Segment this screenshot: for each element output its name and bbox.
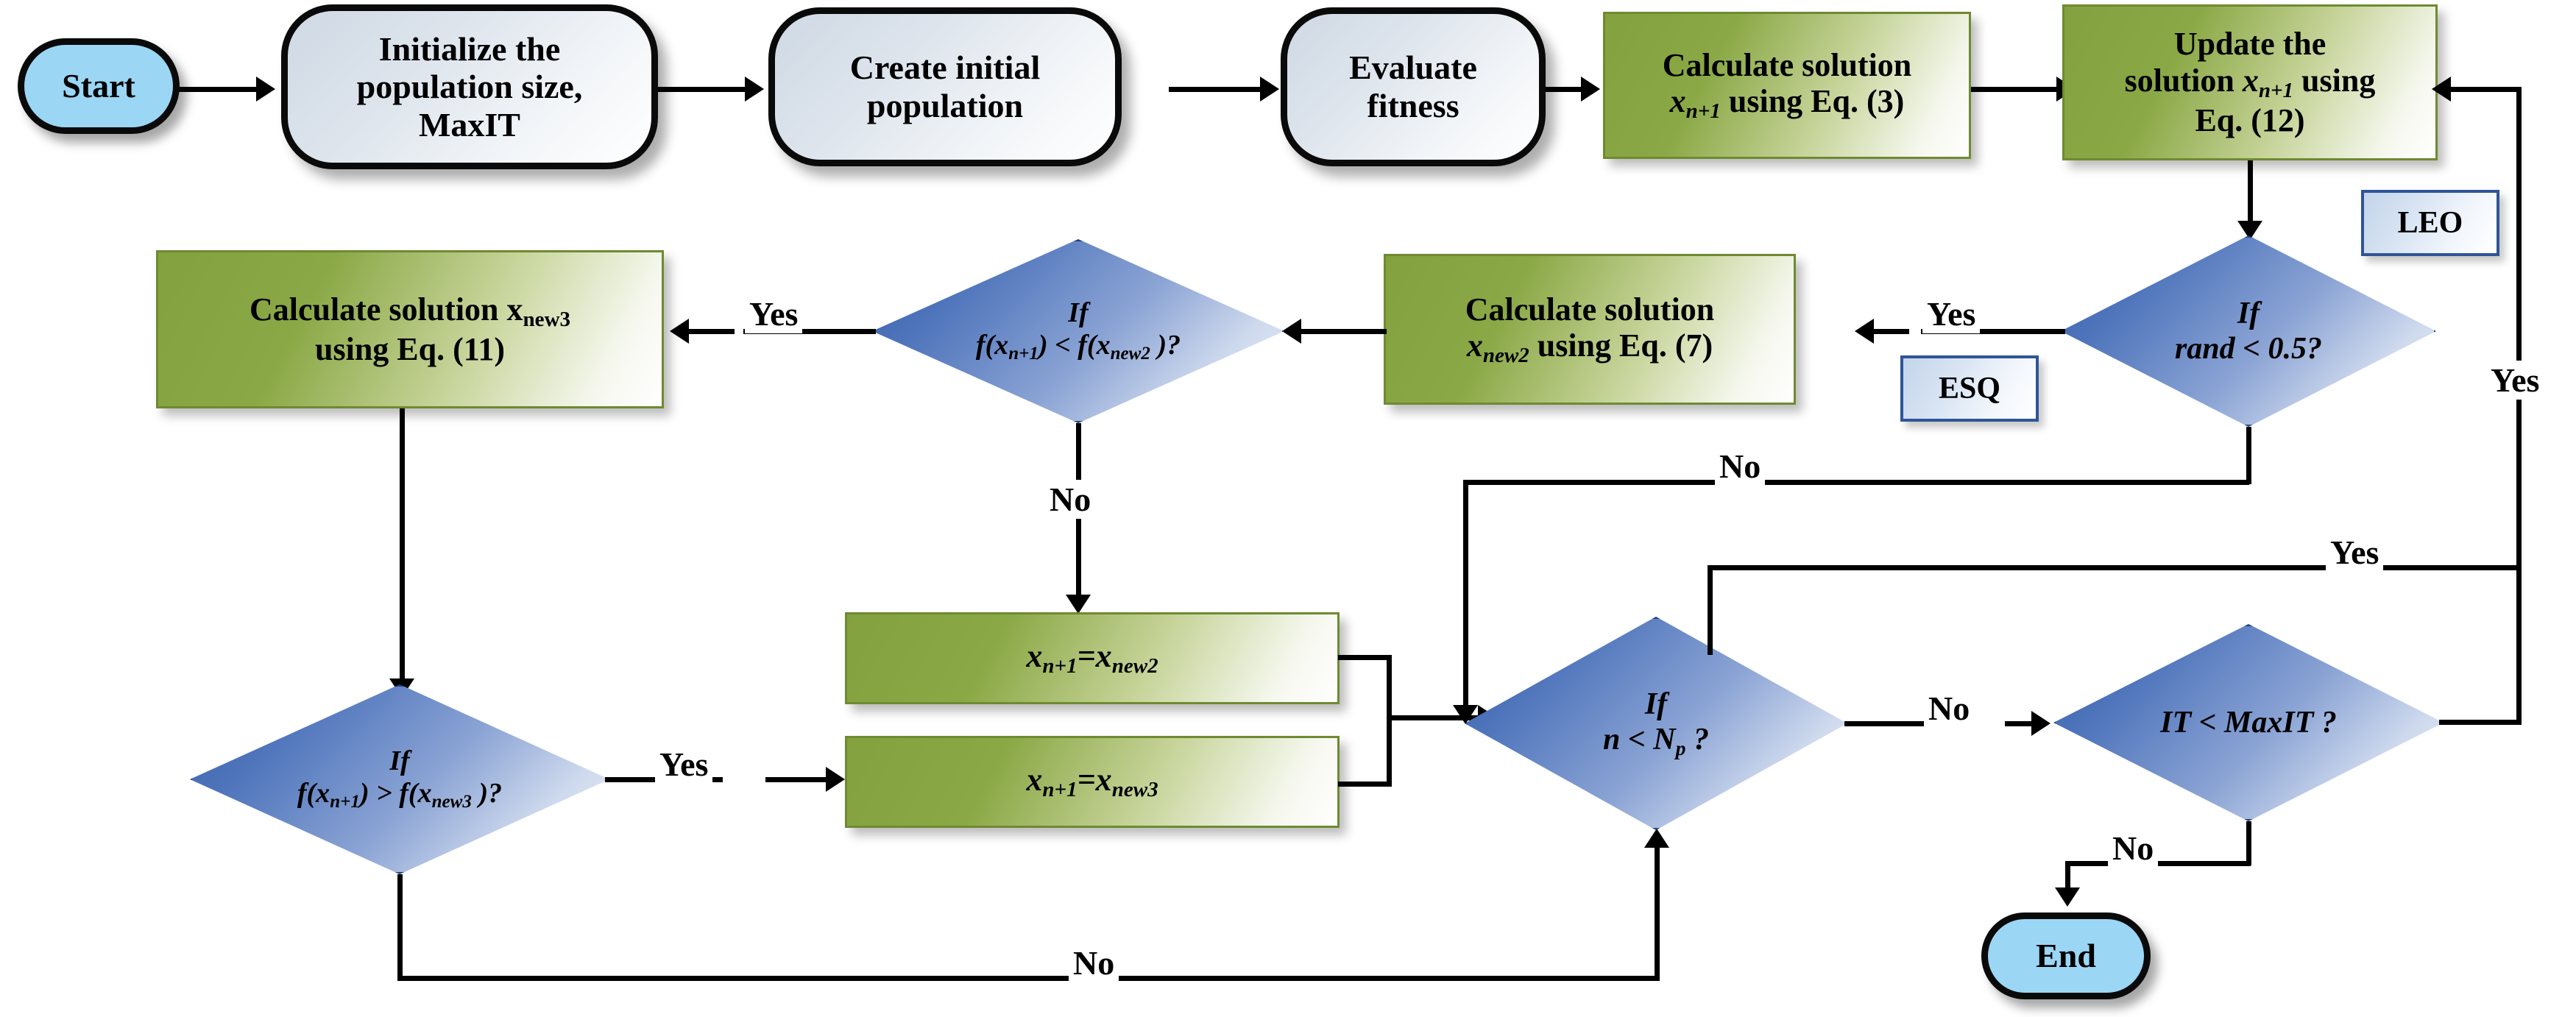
edge-ifrand-yes-2 <box>1868 329 1909 334</box>
var-x: x <box>2243 63 2259 99</box>
node-if-fx-gt-line2: f(xn+1) > f(xnew3 )? <box>297 778 502 813</box>
node-update-solution-eq12-line1: Update the <box>2125 26 2376 62</box>
edge-assign3-out <box>1338 782 1391 787</box>
node-if-fx-lt-line1: If <box>1068 297 1088 330</box>
arrowhead-maxit-yes-back <box>2432 77 2451 102</box>
node-calc-new2-line1: Calculate solution <box>1465 291 1715 327</box>
equals-x: =x <box>1078 638 1112 674</box>
node-create-population-line2: population <box>850 87 1040 125</box>
badge-esq-label: ESQ <box>1939 371 2000 406</box>
var-x: x <box>1670 83 1686 119</box>
var-x-subscript: n+1 <box>1042 778 1077 801</box>
node-assign-new3[interactable]: xn+1=xnew3 <box>845 736 1340 828</box>
using-word: using <box>2293 63 2375 99</box>
np-part-a: n < N <box>1603 723 1676 756</box>
fx-sub-2: new3 <box>432 792 472 812</box>
edge-label-fxlt-yes: Yes <box>745 294 802 333</box>
edge-create-to-evaluate <box>1169 87 1263 92</box>
node-calc-new3-line1: Calculate solution xnew3 <box>250 291 570 332</box>
node-evaluate-fitness-line2: fitness <box>1349 87 1477 125</box>
arrowhead-calcnew2-to-iflt <box>1282 319 1301 344</box>
node-calc-solution-eq3-line1: Calculate solution <box>1663 47 1912 83</box>
node-assign-new2-text: xn+1=xnew2 <box>1026 638 1158 678</box>
edge-assign2-out <box>1338 655 1391 660</box>
node-if-n-lt-np-text: If n < Np ? <box>1465 617 1847 830</box>
node-if-fx-lt-line2: f(xn+1) < f(xnew2 )? <box>976 330 1181 365</box>
calc-new3-text: Calculate solution x <box>250 291 523 327</box>
calc-new3-subscript: new3 <box>523 308 571 331</box>
var-x: x <box>1467 327 1483 364</box>
np-part-b: ? <box>1685 723 1709 756</box>
node-initialize-line1: Initialize the <box>357 30 583 68</box>
arrowhead-ifgt-no-to-ifnp <box>1644 829 1669 848</box>
node-update-solution-eq12[interactable]: Update the solution xn+1 using Eq. (12) <box>2062 4 2438 160</box>
edge-maxit-yes-loop-horiz <box>1708 565 2517 570</box>
update-solution-word: solution <box>2125 63 2243 99</box>
node-assign-new2[interactable]: xn+1=xnew2 <box>845 612 1340 704</box>
node-if-fx-gt-line1: If <box>389 745 409 778</box>
edge-calc3-to-update12 <box>1964 87 2059 92</box>
edge-label-fxgt-no: No <box>1069 943 1119 982</box>
var-x-subscript: n+1 <box>2259 79 2293 102</box>
arrowhead-create-to-evaluate <box>1260 77 1279 102</box>
node-start[interactable]: Start <box>18 38 180 134</box>
node-if-it-lt-maxit[interactable]: IT < MaxIT ? <box>2053 624 2444 821</box>
flowchart-canvas: Start Initialize the population size, Ma… <box>0 0 2576 1017</box>
edge-label-rand-yes: Yes <box>1922 294 1980 333</box>
edge-calcnew2-to-iflt <box>1298 329 1387 334</box>
edge-label-fxgt-yes: Yes <box>655 745 712 784</box>
node-if-it-lt-maxit-text: IT < MaxIT ? <box>2053 624 2444 821</box>
edge-assign-merge-vert <box>1387 655 1392 787</box>
node-if-it-lt-maxit-line1: IT < MaxIT ? <box>2160 705 2337 740</box>
edge-ifrand-no-horiz <box>1463 480 2249 485</box>
edge-ifgt-no-vert <box>397 874 403 980</box>
node-end[interactable]: End <box>1981 913 2151 999</box>
edge-maxit-no-vert <box>2246 821 2251 865</box>
edge-maxit-yes-vert <box>2516 87 2522 721</box>
var-x: x <box>1026 762 1042 798</box>
node-if-n-lt-np[interactable]: If n < Np ? <box>1465 617 1847 830</box>
edge-maxit-yes-loop-vert <box>1708 565 1713 655</box>
arrowhead-start-to-init <box>256 77 275 102</box>
edge-label-maxit-no: No <box>2108 829 2158 868</box>
edge-init-to-create <box>654 87 748 92</box>
node-if-fx-gt-text: If f(xn+1) > f(xnew3 )? <box>190 684 609 874</box>
equals-x: =x <box>1078 762 1112 798</box>
fx-sub-1: n+1 <box>330 792 360 812</box>
node-initialize-line3: MaxIT <box>357 106 583 144</box>
node-if-fx-gt[interactable]: If f(xn+1) > f(xnew3 )? <box>190 684 609 874</box>
node-assign-new3-text: xn+1=xnew3 <box>1026 762 1158 802</box>
node-update-solution-eq12-line3: Eq. (12) <box>2125 102 2376 138</box>
edge-label-rand-no: No <box>1715 447 1765 486</box>
node-calc-new2-line2: xnew2 using Eq. (7) <box>1465 327 1715 368</box>
node-end-label: End <box>2036 937 2096 975</box>
edge-maxit-yes-out <box>2439 720 2522 725</box>
var-x-subscript: n+1 <box>1686 99 1721 123</box>
edge-label-np-no: No <box>1924 689 1974 728</box>
node-initialize-line2: population size, <box>357 68 583 106</box>
edge-iflt-yes-2 <box>683 329 735 334</box>
arrowhead-init-to-create <box>745 77 764 102</box>
node-if-fx-lt[interactable]: If f(xn+1) < f(xnew2 )? <box>872 239 1284 423</box>
node-calc-new3[interactable]: Calculate solution xnew3 using Eq. (11) <box>156 250 664 408</box>
arrowhead-evaluate-to-calc3 <box>1581 77 1600 102</box>
fx-part-c: )? <box>1150 330 1181 361</box>
var-x-subscript: n+1 <box>1042 654 1077 678</box>
badge-esq: ESQ <box>1900 355 2039 422</box>
fx-part-a: f(x <box>297 778 330 809</box>
fx-sub-2: new2 <box>1111 344 1150 364</box>
node-update-solution-eq12-line2: solution xn+1 using <box>2125 63 2376 103</box>
node-calc-new2[interactable]: Calculate solution xnew2 using Eq. (7) <box>1384 254 1796 405</box>
edge-maxit-yes-back <box>2451 87 2519 92</box>
edge-calcnew3-to-ifgt <box>400 408 405 688</box>
arrowhead-ifgt-yes <box>826 767 845 792</box>
node-start-label: Start <box>62 67 135 105</box>
np-subscript: p <box>1676 737 1686 759</box>
node-evaluate-fitness[interactable]: Evaluate fitness <box>1281 7 1546 166</box>
edge-start-to-init <box>177 87 258 92</box>
edge-ifrand-no-vert <box>2246 427 2251 484</box>
arrowhead-maxit-no-to-end <box>2055 887 2080 907</box>
node-create-population-line1: Create initial <box>850 49 1040 87</box>
var-x-subscript-2: new2 <box>1112 654 1158 678</box>
edge-label-fxlt-no: No <box>1045 480 1095 519</box>
node-calc-solution-eq3-line2: xn+1 using Eq. (3) <box>1663 83 1912 124</box>
node-create-population[interactable]: Create initial population <box>768 7 1122 166</box>
node-calc-solution-eq3[interactable]: Calculate solution xn+1 using Eq. (3) <box>1603 12 1971 159</box>
arrowhead-iflt-no <box>1066 595 1091 614</box>
node-if-rand-line1: If <box>2237 296 2260 331</box>
node-if-rand-line2: rand < 0.5? <box>2175 331 2322 366</box>
node-if-n-lt-np-line1: If <box>1645 687 1667 722</box>
node-calc-new3-line2: using Eq. (11) <box>250 331 570 367</box>
eq7-text: using Eq. (7) <box>1529 327 1713 364</box>
edge-ifgt-no-horiz <box>397 976 1660 981</box>
fx-part-b: ) > f(x <box>360 778 432 809</box>
node-if-rand[interactable]: If rand < 0.5? <box>2061 235 2436 427</box>
var-x-subscript: new2 <box>1483 344 1529 367</box>
node-if-n-lt-np-line2: n < Np ? <box>1603 722 1709 760</box>
fx-part-b: ) < f(x <box>1038 330 1111 361</box>
node-initialize[interactable]: Initialize the population size, MaxIT <box>281 4 658 169</box>
edge-ifgt-no-up <box>1655 846 1660 979</box>
node-if-rand-text: If rand < 0.5? <box>2061 235 2436 427</box>
maxit-question: ? <box>2313 706 2337 740</box>
edge-ifnp-no <box>1844 721 1924 726</box>
edge-update12-to-ifrand <box>2248 160 2253 230</box>
node-if-fx-lt-text: If f(xn+1) < f(xnew2 )? <box>872 239 1284 423</box>
maxit-expr: IT < MaxIT <box>2160 706 2313 740</box>
var-x-subscript-2: new3 <box>1112 778 1158 801</box>
node-evaluate-fitness-line1: Evaluate <box>1349 49 1477 87</box>
fx-part-c: )? <box>472 778 502 809</box>
fx-sub-1: n+1 <box>1008 344 1038 364</box>
arrowhead-ifnp-no <box>2031 711 2050 736</box>
edge-label-maxit-yes-right: Yes <box>2486 361 2544 400</box>
eq3-text: using Eq. (3) <box>1721 83 1904 119</box>
edge-label-maxit-yes: Yes <box>2326 533 2383 572</box>
fx-part-a: f(x <box>976 330 1008 361</box>
var-x: x <box>1026 638 1042 674</box>
